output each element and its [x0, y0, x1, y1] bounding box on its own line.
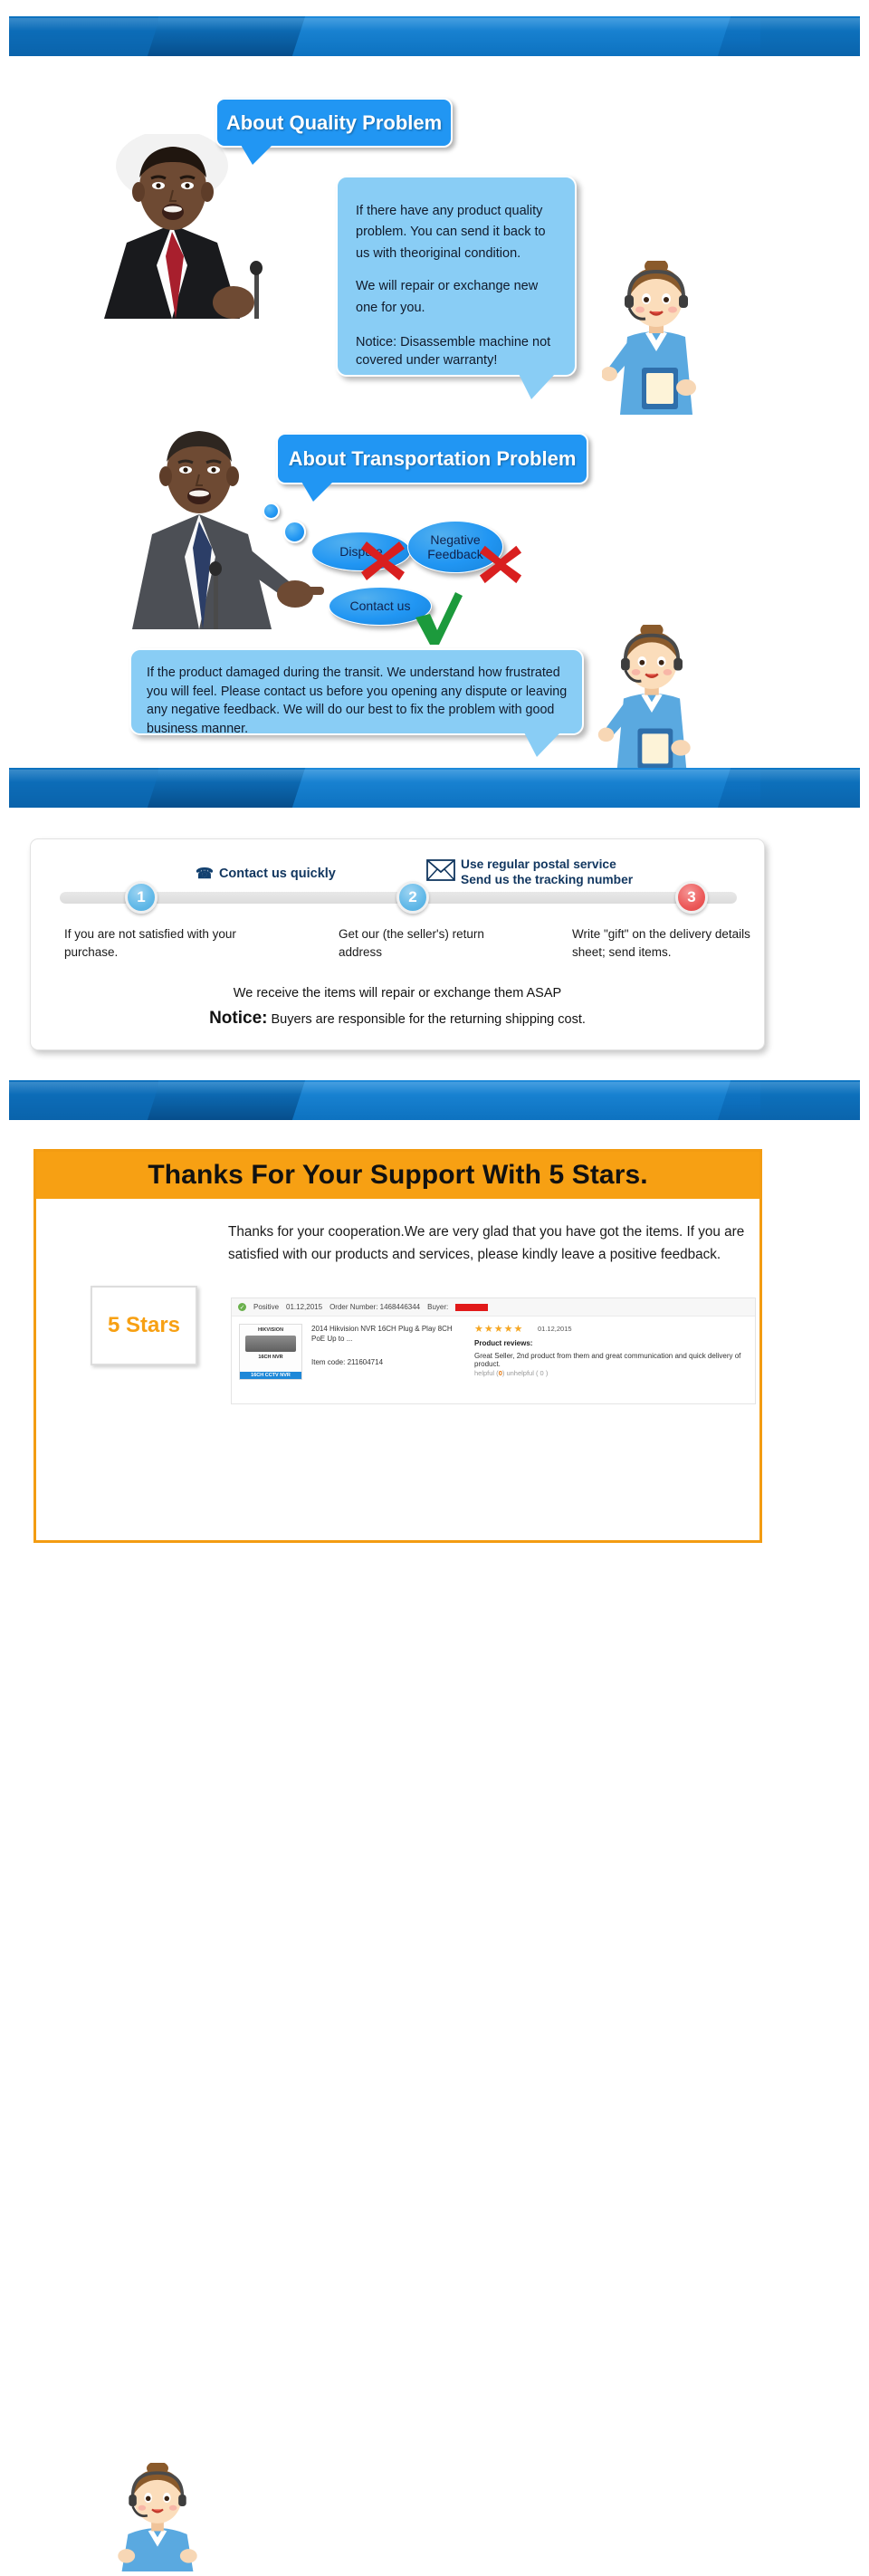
middle-banner — [9, 768, 860, 808]
product-brand-label: HIKVISION — [240, 1325, 301, 1333]
envelope-svg — [426, 859, 455, 881]
thought-dot-small — [263, 503, 280, 520]
quality-line-2: We will repair or exchange new one for y… — [356, 276, 559, 319]
postal-line-1: Use regular postal service — [461, 857, 616, 871]
thanks-title: Thanks For Your Support With 5 Stars. — [36, 1152, 759, 1199]
feedback-buyer-label: Buyer: — [427, 1303, 448, 1311]
product-model-label: 16CH NVR — [240, 1355, 301, 1360]
banner-shine — [9, 770, 860, 782]
step-head-contact-label: Contact us quickly — [219, 867, 336, 881]
helpful-close: ) — [502, 1369, 505, 1377]
bottom-banner — [9, 1080, 860, 1120]
return-steps-panel: ☎ Contact us quickly Use regular postal … — [30, 838, 765, 1050]
positive-check-icon: ✓ — [238, 1303, 246, 1311]
transport-title-bubble: About Transportation Problem — [276, 433, 588, 484]
notice-bold-label: Notice: — [209, 1009, 267, 1028]
quality-info-bubble: If there have any product quality proble… — [336, 176, 577, 377]
check-mark-svg — [412, 590, 464, 646]
transport-info-bubble: If the product damaged during the transi… — [129, 648, 584, 735]
step-text-1: If you are not satisfied with your purch… — [64, 925, 245, 961]
feedback-order-number: Order Number: 1468446344 — [329, 1303, 420, 1311]
transport-paragraph: If the product damaged during the transi… — [147, 664, 568, 739]
step-circle-1: 1 — [125, 881, 158, 914]
banner-shine — [9, 1082, 860, 1095]
agent-svg-1 — [602, 261, 711, 415]
step-circle-2: 2 — [396, 881, 429, 914]
five-stars-board: 5 Stars — [91, 1286, 197, 1365]
step-circle-3: 3 — [675, 881, 708, 914]
green-check-icon — [412, 590, 464, 651]
five-stars-label: 5 Stars — [108, 1313, 180, 1338]
steps-footer-line-2: Notice: Buyers are responsible for the r… — [31, 1009, 764, 1029]
thanks-body-text: Thanks for your cooperation.We are very … — [228, 1221, 753, 1266]
notice-rest-label: Buyers are responsible for the returning… — [267, 1012, 585, 1027]
feedback-date: 01.12,2015 — [286, 1303, 322, 1311]
buyer-name-redaction — [455, 1304, 488, 1311]
step-text-2: Get our (the seller's) return address — [339, 925, 520, 961]
quality-line-3: Notice: Disassemble machine not covered … — [356, 334, 559, 369]
banner-shine — [9, 18, 860, 31]
thought-dot-large — [283, 521, 306, 543]
support-agent-illustration-1 — [602, 261, 711, 415]
quality-title-bubble: About Quality Problem — [215, 98, 453, 148]
red-x-negative-icon — [478, 541, 523, 590]
transport-title-text: About Transportation Problem — [289, 447, 577, 471]
oval-contact-label: Contact us — [350, 599, 411, 613]
postal-line-2: Send us the tracking number — [461, 873, 633, 886]
product-thumbnail: HIKVISION 16CH NVR 16CH CCTV NVR — [239, 1324, 302, 1380]
product-reviews-label: Product reviews: — [474, 1339, 532, 1347]
product-banner-label: 16CH CCTV NVR — [240, 1372, 301, 1379]
phone-icon: ☎ — [196, 865, 214, 883]
support-agent-illustration-2 — [597, 625, 706, 774]
x-mark-svg-2 — [478, 541, 523, 586]
product-device-shape — [245, 1336, 296, 1352]
envelope-icon — [426, 859, 455, 886]
feedback-header-row: ✓ Positive 01.12,2015 Order Number: 1468… — [232, 1298, 755, 1317]
quality-line-1: If there have any product quality proble… — [356, 201, 559, 264]
product-item-code: Item code: 211604714 — [311, 1358, 383, 1366]
feedback-status: Positive — [253, 1303, 279, 1311]
rating-date: 01.12,2015 — [538, 1325, 572, 1333]
steps-footer-line-1: We receive the items will repair or exch… — [31, 986, 764, 1001]
step-number-3: 3 — [687, 888, 695, 906]
step-text-3: Write "gift" on the delivery details she… — [572, 925, 771, 961]
agent-svg-2 — [597, 625, 706, 774]
feedback-screenshot: ✓ Positive 01.12,2015 Order Number: 1468… — [231, 1298, 756, 1404]
agent-svg-3 — [110, 2463, 205, 2571]
rating-stars-icon: ★★★★★ — [474, 1323, 523, 1335]
support-agent-illustration-3 — [110, 2463, 205, 2571]
top-banner — [9, 16, 860, 56]
x-mark-svg-1 — [359, 536, 406, 583]
step-head-contact: ☎ Contact us quickly — [196, 865, 336, 883]
step-head-postal-labels: Use regular postal service Send us the t… — [461, 857, 633, 888]
step-head-postal: Use regular postal service Send us the t… — [426, 857, 633, 888]
unhelpful-label: unhelpful ( 0 ) — [506, 1369, 548, 1377]
helpful-row: helpful (0) unhelpful ( 0 ) — [474, 1369, 548, 1377]
helpful-label: helpful ( — [474, 1369, 499, 1377]
thanks-section: Thanks For Your Support With 5 Stars. Th… — [33, 1149, 762, 1543]
red-x-dispute-icon — [359, 536, 406, 588]
product-title: 2014 Hikvision NVR 16CH Plug & Play 8CH … — [311, 1324, 456, 1344]
product-review-text: Great Seller, 2nd product from them and … — [474, 1352, 746, 1368]
step-number-1: 1 — [137, 888, 145, 906]
step-number-2: 2 — [408, 888, 416, 906]
quality-title-text: About Quality Problem — [226, 111, 442, 135]
